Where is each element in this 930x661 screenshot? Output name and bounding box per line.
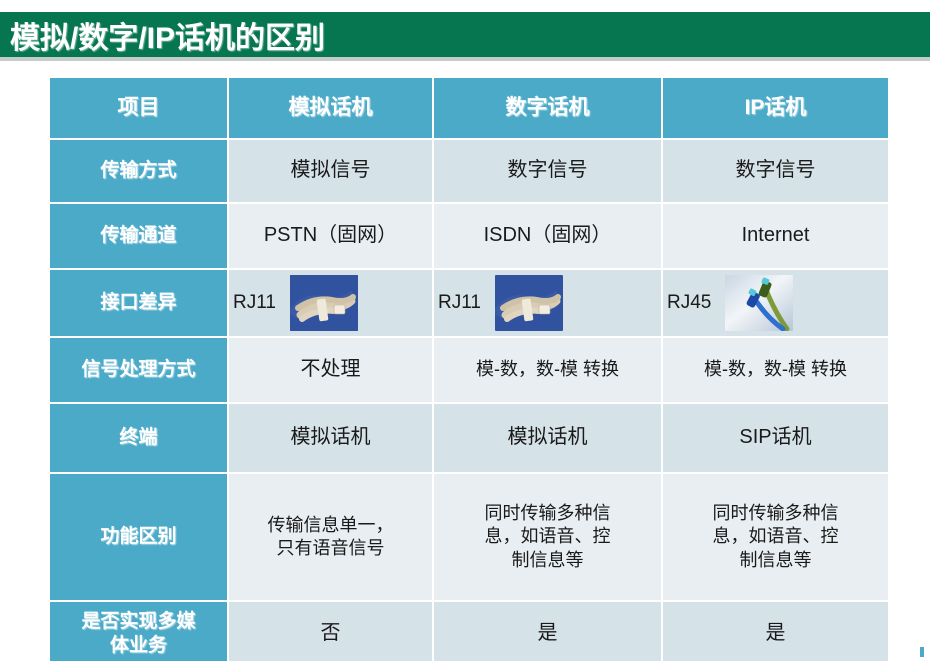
row-label-signal-processing: 信号处理方式 [50, 338, 227, 402]
cell-transmission-mode-digital: 数字信号 [434, 140, 661, 202]
row-label-function-difference: 功能区别 [50, 474, 227, 600]
cell-interface-analog: RJ11 [229, 270, 432, 336]
cell-interface-ip: RJ45 [663, 270, 888, 336]
cell-signal-processing-digital: 模-数，数-模 转换 [434, 338, 661, 402]
rj11-cable-photo-digital [495, 275, 563, 331]
title-underline [0, 57, 930, 61]
row-label-multimedia-support: 是否实现多媒 体业务 [50, 602, 227, 661]
comparison-table: 项目 模拟话机 数字话机 IP话机 传输方式 模拟信号 数字信号 数字信号 传输… [48, 76, 890, 661]
cell-terminal-analog: 模拟话机 [229, 404, 432, 472]
table-header-row: 项目 模拟话机 数字话机 IP话机 [50, 78, 888, 138]
column-header-ip: IP话机 [663, 78, 888, 138]
connector-label-analog: RJ11 [233, 291, 276, 315]
row-label-transmission-channel: 传输通道 [50, 204, 227, 268]
slide-canvas: 模拟/数字/IP话机的区别 项目 模拟话机 数字话机 IP话机 传输方式 模拟信… [0, 0, 930, 661]
cell-transmission-channel-ip: Internet [663, 204, 888, 268]
connector-label-digital: RJ11 [438, 291, 481, 315]
rj45-cable-photo-ip [725, 275, 793, 331]
row-label-terminal: 终端 [50, 404, 227, 472]
column-header-digital: 数字话机 [434, 78, 661, 138]
row-label-interface-difference: 接口差异 [50, 270, 227, 336]
cell-interface-digital: RJ11 [434, 270, 661, 336]
column-header-analog: 模拟话机 [229, 78, 432, 138]
cell-terminal-digital: 模拟话机 [434, 404, 661, 472]
cell-transmission-channel-analog: PSTN（固网） [229, 204, 432, 268]
table-row: 信号处理方式 不处理 模-数，数-模 转换 模-数，数-模 转换 [50, 338, 888, 402]
cell-terminal-ip: SIP话机 [663, 404, 888, 472]
row-label-transmission-mode: 传输方式 [50, 140, 227, 202]
slide-title-banner: 模拟/数字/IP话机的区别 [0, 12, 930, 57]
table-row: 传输方式 模拟信号 数字信号 数字信号 [50, 140, 888, 202]
slide-corner-marker [920, 647, 924, 657]
cell-signal-processing-ip: 模-数，数-模 转换 [663, 338, 888, 402]
table-row: 是否实现多媒 体业务 否 是 是 [50, 602, 888, 661]
cell-signal-processing-analog: 不处理 [229, 338, 432, 402]
connector-label-ip: RJ45 [667, 291, 711, 315]
cell-transmission-channel-digital: ISDN（固网） [434, 204, 661, 268]
table-row: 接口差异 RJ11 [50, 270, 888, 336]
table-row: 终端 模拟话机 模拟话机 SIP话机 [50, 404, 888, 472]
column-header-item: 项目 [50, 78, 227, 138]
cell-function-difference-ip: 同时传输多种信 息，如语音、控 制信息等 [663, 474, 888, 600]
cell-function-difference-analog: 传输信息单一， 只有语音信号 [229, 474, 432, 600]
cell-transmission-mode-ip: 数字信号 [663, 140, 888, 202]
cell-multimedia-support-analog: 否 [229, 602, 432, 661]
cell-transmission-mode-analog: 模拟信号 [229, 140, 432, 202]
rj11-cable-photo-analog [290, 275, 358, 331]
table-row: 功能区别 传输信息单一， 只有语音信号 同时传输多种信 息，如语音、控 制信息等… [50, 474, 888, 600]
cell-multimedia-support-digital: 是 [434, 602, 661, 661]
cell-function-difference-digital: 同时传输多种信 息，如语音、控 制信息等 [434, 474, 661, 600]
table-row: 传输通道 PSTN（固网） ISDN（固网） Internet [50, 204, 888, 268]
cell-multimedia-support-ip: 是 [663, 602, 888, 661]
page-title: 模拟/数字/IP话机的区别 [0, 13, 325, 57]
